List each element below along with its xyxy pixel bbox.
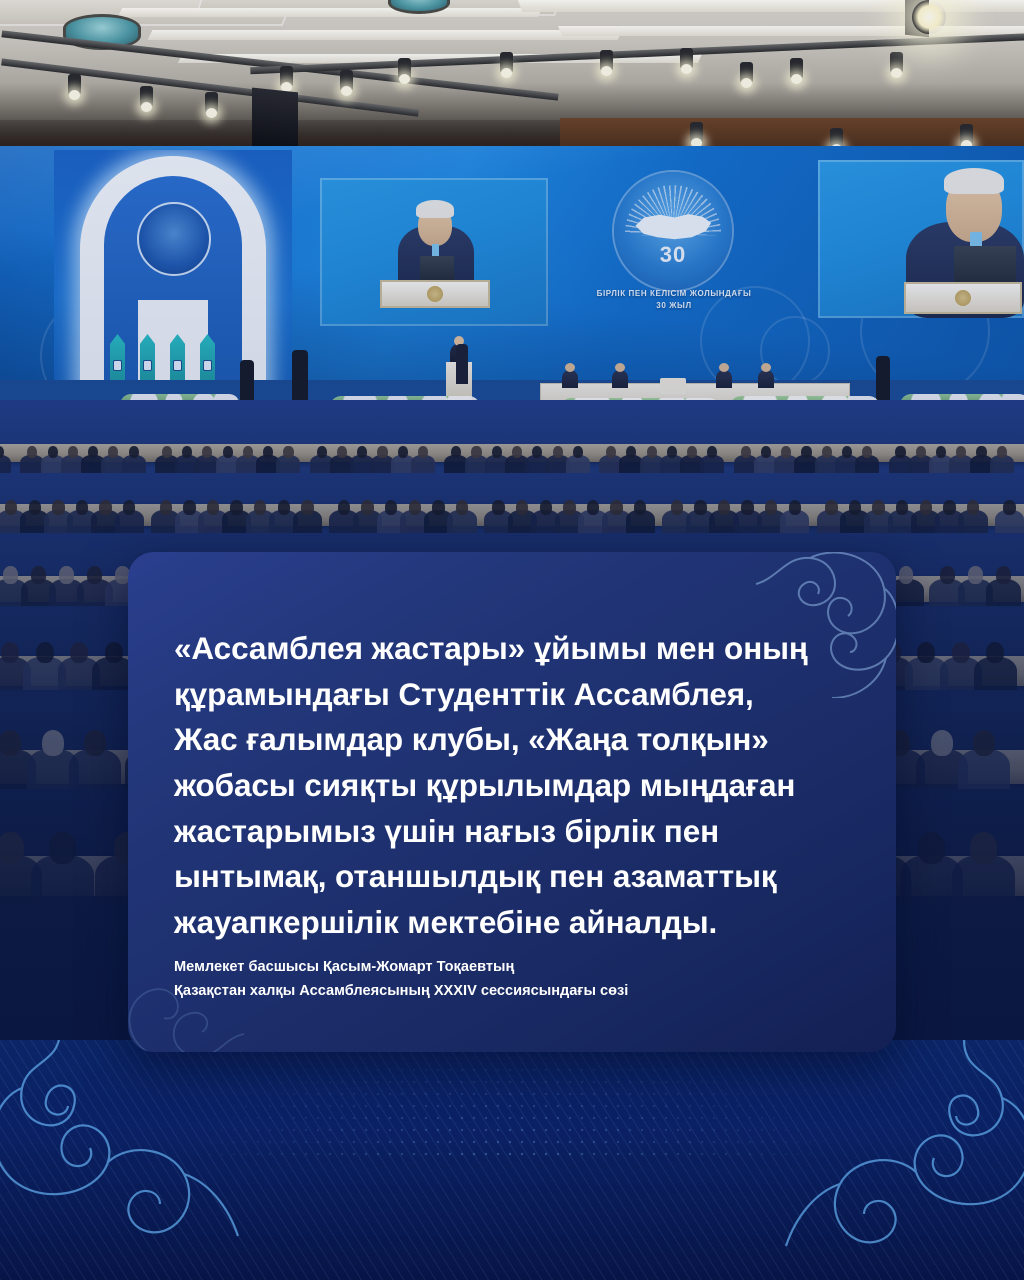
audience-member-head [338,500,350,515]
audience-member-head [223,446,233,458]
audience-member-head [337,446,347,458]
podium-laptop [420,256,454,282]
audience-member-head [27,446,37,458]
podium [380,280,490,308]
audience-member-head [59,566,74,584]
audience-member-head [432,500,444,515]
audience-member-head [707,446,717,458]
audience-member-head [849,500,861,515]
audience-member-head [283,446,293,458]
camera-tripod [456,344,468,384]
bright-light-flare [912,0,946,34]
audience-member-head [207,500,219,515]
audience-member-head [587,500,599,515]
yurt-emblem-icon [137,202,211,276]
audience-member-head [952,642,970,663]
audience-member-head [540,500,552,515]
quote-text: «Ассамблея жастары» ұйымы мен оның құрам… [174,626,854,946]
stage-spotlight [600,50,613,71]
stage-spotlight [790,58,803,79]
audience-member-head [986,642,1004,663]
audience-member-head [361,500,373,515]
stage-screen-caption: БІРЛІК ПЕН КЕЛІСІМ ЖОЛЫНДАҒЫ 30 ЖЫЛ [560,288,788,312]
stage-spotlight [680,48,693,69]
audience-member-head [825,500,837,515]
audience-member-head [917,642,935,663]
audience-member-head [377,446,387,458]
audience-member-head [606,446,616,458]
presidium-member [758,370,774,388]
quote-attribution: Мемлекет басшысы Қасым-Жомарт Тоқаевтың … [174,956,864,1003]
audience-member-head [647,446,657,458]
presidium-member [612,370,628,388]
audience-member-head [471,446,481,458]
audience-member-head [610,500,622,515]
audience-member-head [5,500,17,515]
audience-member-head [31,566,46,584]
audience-member-head [129,446,139,458]
audience-member-head [105,642,123,663]
stage-spotlight [690,122,703,143]
audience-member-head [123,500,135,515]
audience-member-head [418,446,428,458]
audience-member-head [671,500,683,515]
audience-member-head [68,446,78,458]
audience-member-head [687,446,697,458]
audience-member-head [553,446,563,458]
camera-operator [292,350,308,402]
audience-member-head [1,642,19,663]
audience-member-head [997,446,1007,458]
audience-member-head [918,832,945,864]
presidium-member [716,370,732,388]
audience-member-head [532,446,542,458]
audience-member-head [968,566,983,584]
audience-member-head [512,446,522,458]
audience-member-head [0,730,21,756]
speaker-hair [944,168,1004,194]
audience-member-head [84,730,106,756]
speaker-at-podium-screen [320,178,548,326]
audience-member-head [872,500,884,515]
audience-member-head [765,500,777,515]
audience-member-head [42,730,64,756]
stage-spotlight [205,92,218,113]
stage-spotlight [68,74,81,95]
ceiling-light-strip [518,0,1024,12]
audience-member-head [182,446,192,458]
audience-member-head [108,446,118,458]
assembly-emblem-screen: 30 [614,172,732,290]
audience-member-head [634,500,646,515]
audience-member-head [781,446,791,458]
audience-member-head [667,446,677,458]
audience-member-head [718,500,730,515]
audience-member-head [76,500,88,515]
audience-member-head [920,500,932,515]
audience-member-head [573,446,583,458]
audience-member-head [492,500,504,515]
stage-spotlight [340,70,353,91]
audience-member-head [956,446,966,458]
audience-member-head [940,566,955,584]
audience-member-head [398,446,408,458]
audience-member-head [183,500,195,515]
audience-member-head [162,446,172,458]
audience-member-head [160,500,172,515]
quote-card: «Ассамблея жастары» ұйымы мен оның құрам… [128,552,896,1052]
audience-member-head [896,500,908,515]
audience-member-head [936,446,946,458]
ceiling [0,0,1024,150]
audience-member-head [822,446,832,458]
halftone-dot-pattern [180,1040,844,1160]
stage-spotlight [500,52,513,73]
audience-member-head [202,446,212,458]
audience-member-head [761,446,771,458]
poster-root: 30 БІРЛІК ПЕН КЕЛІСІМ ЖОЛЫНДАҒЫ 30 ЖЫЛ [0,0,1024,1280]
audience-member-head [516,500,528,515]
audience-member-head [801,446,811,458]
audience-member-head [970,832,997,864]
audience-member-head [48,446,58,458]
ceiling-light-strip [118,8,542,17]
audience-member-head [943,500,955,515]
audience-member-head [916,446,926,458]
camera-operator [876,356,890,402]
audience-member-head [456,500,468,515]
stage-spotlight [890,52,903,73]
audience-member-head [254,500,266,515]
stage-spotlight [140,86,153,107]
audience-member-head [563,500,575,515]
camera-operator [240,360,254,404]
audience-member-head [243,446,253,458]
audience-member-head [230,500,242,515]
audience-member-head [301,500,313,515]
stage-spotlight [398,58,411,79]
audience-member-head [385,500,397,515]
audience-member-head [741,500,753,515]
audience-member-head [626,446,636,458]
yurt-stage-decoration [54,150,292,396]
presidium-member [562,370,578,388]
audience-member-head [492,446,502,458]
audience-member-head [842,446,852,458]
audience-member-head [357,446,367,458]
ceiling-light-strip [148,30,623,40]
audience-member-head [87,566,102,584]
audience-member-head [70,642,88,663]
audience-member-head [409,500,421,515]
audience-member-head [88,446,98,458]
audience-member-head [895,446,905,458]
audience-member-head [49,832,76,864]
audience-member-head [99,500,111,515]
audience-member-head [317,446,327,458]
audience-member-head [29,500,41,515]
anniversary-number: 30 [614,242,732,268]
stage-spotlight [280,66,293,87]
audience-member-head [3,566,18,584]
audience-member-head [52,500,64,515]
audience-member-head [931,730,953,756]
presidium-laptop [660,378,686,394]
bottom-panel: ҚАЗАҚСТАН ХАЛҚЫ АССАМБЛЕЯСЫ АССАМБЛЕЯ НА… [0,1040,1024,1280]
audience-member-head [996,566,1011,584]
audience-member-head [694,500,706,515]
stage-spotlight [740,62,753,83]
speaker-closeup-screen [818,160,1024,318]
audience-member-head [862,446,872,458]
audience-member-head [263,446,273,458]
audience-member-head [451,446,461,458]
audience-member-head [967,500,979,515]
podium [904,282,1022,314]
audience-member-head [899,566,914,584]
audience-member-head [741,446,751,458]
audience-member-head [976,446,986,458]
audience-member-head [36,642,54,663]
audience-member-head [0,832,24,864]
audience-member-head [278,500,290,515]
audience-member-head [973,730,995,756]
speaker-hair [416,200,454,218]
stage-spotlight [960,124,973,145]
audience-member-head [1003,500,1015,515]
ceiling-light-strip [558,26,1024,36]
pa-speaker-array [252,88,298,155]
audience-member-head [789,500,801,515]
